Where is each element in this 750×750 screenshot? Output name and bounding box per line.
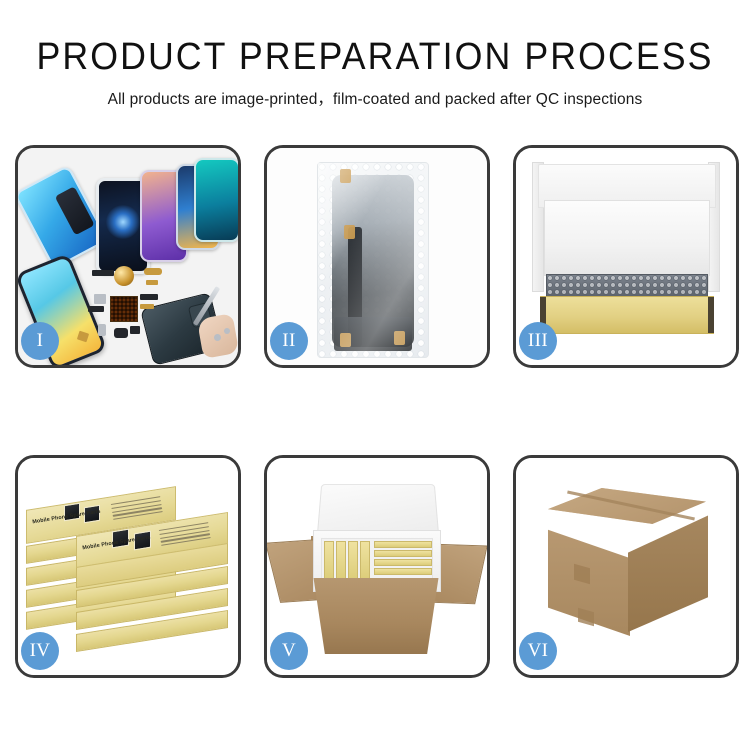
- part-icon: [130, 326, 140, 334]
- part-icon: [92, 270, 114, 276]
- step-panel-1[interactable]: I: [15, 145, 241, 368]
- tape-icon: [340, 333, 351, 347]
- step-panel-5[interactable]: V: [264, 455, 490, 678]
- page-title: PRODUCT PREPARATION PROCESS: [23, 38, 728, 78]
- part-icon: [88, 306, 104, 312]
- step-badge-3: III: [519, 322, 557, 360]
- tape-icon: [340, 169, 351, 183]
- step-badge-2: II: [270, 322, 308, 360]
- part-icon: [98, 324, 106, 336]
- bubble-layer-icon: [546, 274, 708, 298]
- foam-cavity: [321, 538, 433, 582]
- phone-screen-teal-icon: [194, 158, 238, 242]
- step-panel-3[interactable]: III: [513, 145, 739, 368]
- step-badge-4: IV: [21, 632, 59, 670]
- yellow-box-item: [360, 541, 370, 581]
- yellow-box-item: [348, 541, 358, 581]
- yellow-box-item: [374, 559, 432, 566]
- coin-part-icon: [114, 266, 134, 286]
- part-icon: [146, 280, 158, 285]
- step-panel-4[interactable]: Mobile Phone Spare Parts Mobile Phone Sp…: [15, 455, 241, 678]
- yellow-box-item: [324, 541, 334, 581]
- page-subtitle: All products are image-printed，film-coat…: [0, 87, 750, 109]
- step-badge-1: I: [21, 322, 59, 360]
- step-panel-2[interactable]: II: [264, 145, 490, 368]
- box-stack-icon: Mobile Phone Spare Parts Mobile Phone Sp…: [24, 482, 234, 658]
- sealed-carton-icon: [530, 488, 724, 648]
- page-header: PRODUCT PREPARATION PROCESS All products…: [0, 0, 750, 109]
- part-icon: [140, 304, 154, 309]
- part-icon: [144, 268, 162, 275]
- carton-body-icon: [305, 578, 447, 654]
- step-badge-5: V: [270, 632, 308, 670]
- part-icon: [114, 328, 128, 338]
- yellow-box-item: [336, 541, 346, 581]
- carton-right-face: [628, 508, 708, 632]
- step-panel-6[interactable]: VI: [513, 455, 739, 678]
- process-steps-grid: I II III: [15, 145, 738, 678]
- step-badge-6: VI: [519, 632, 557, 670]
- part-icon: [94, 294, 106, 304]
- foam-sheet-icon: [544, 200, 710, 276]
- bubble-wrap-bag-icon: [317, 162, 429, 358]
- part-icon: [140, 294, 158, 300]
- yellow-box-item: [374, 550, 432, 557]
- yellow-box-item: [374, 568, 432, 575]
- chip-grid-part-icon: [110, 296, 138, 322]
- tape-icon: [394, 331, 405, 345]
- tape-icon: [344, 225, 355, 239]
- screw-icon: [214, 334, 221, 341]
- yellow-box-base-icon: [540, 296, 714, 334]
- screw-icon: [224, 328, 230, 334]
- phone-screen-blue-icon: [18, 164, 109, 269]
- yellow-box-item: [374, 541, 432, 548]
